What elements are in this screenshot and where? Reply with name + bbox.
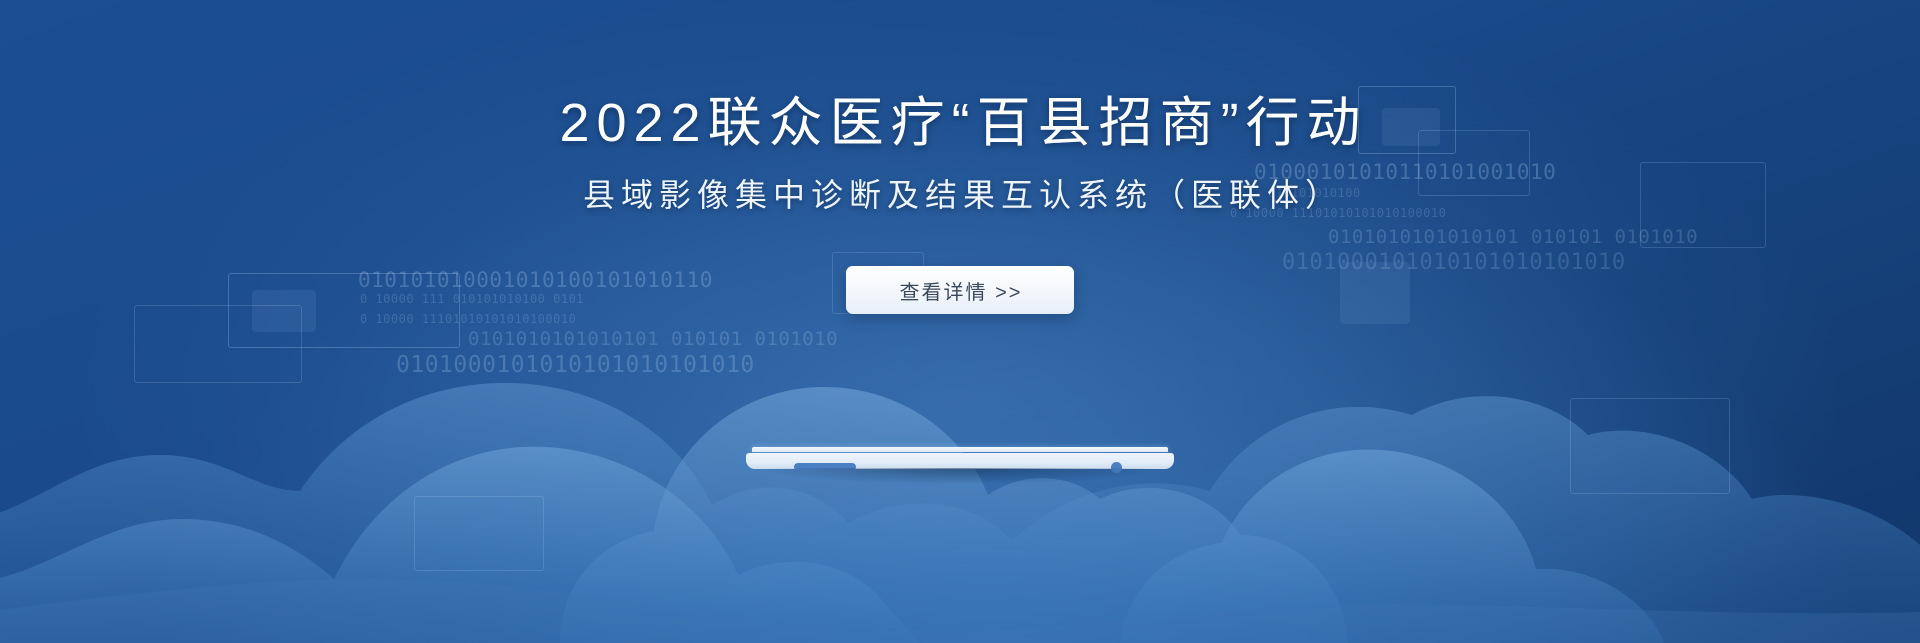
- promo-banner: 010101010001010100101010110 0 10000 111 …: [0, 0, 1920, 643]
- banner-subtitle: 县域影像集中诊断及结果互认系统（医联体）: [577, 176, 1343, 214]
- laptop-base-illustration: [746, 447, 1174, 475]
- banner-content: 2022联众医疗“百县招商”行动 县域影像集中诊断及结果互认系统（医联体） 查看…: [0, 0, 1920, 643]
- laptop-body: [746, 453, 1174, 469]
- banner-title: 2022联众医疗“百县招商”行动: [552, 92, 1367, 154]
- view-details-button[interactable]: 查看详情 >>: [846, 266, 1074, 314]
- laptop-shadow: [762, 468, 1158, 484]
- laptop-lid-edge: [752, 447, 1168, 452]
